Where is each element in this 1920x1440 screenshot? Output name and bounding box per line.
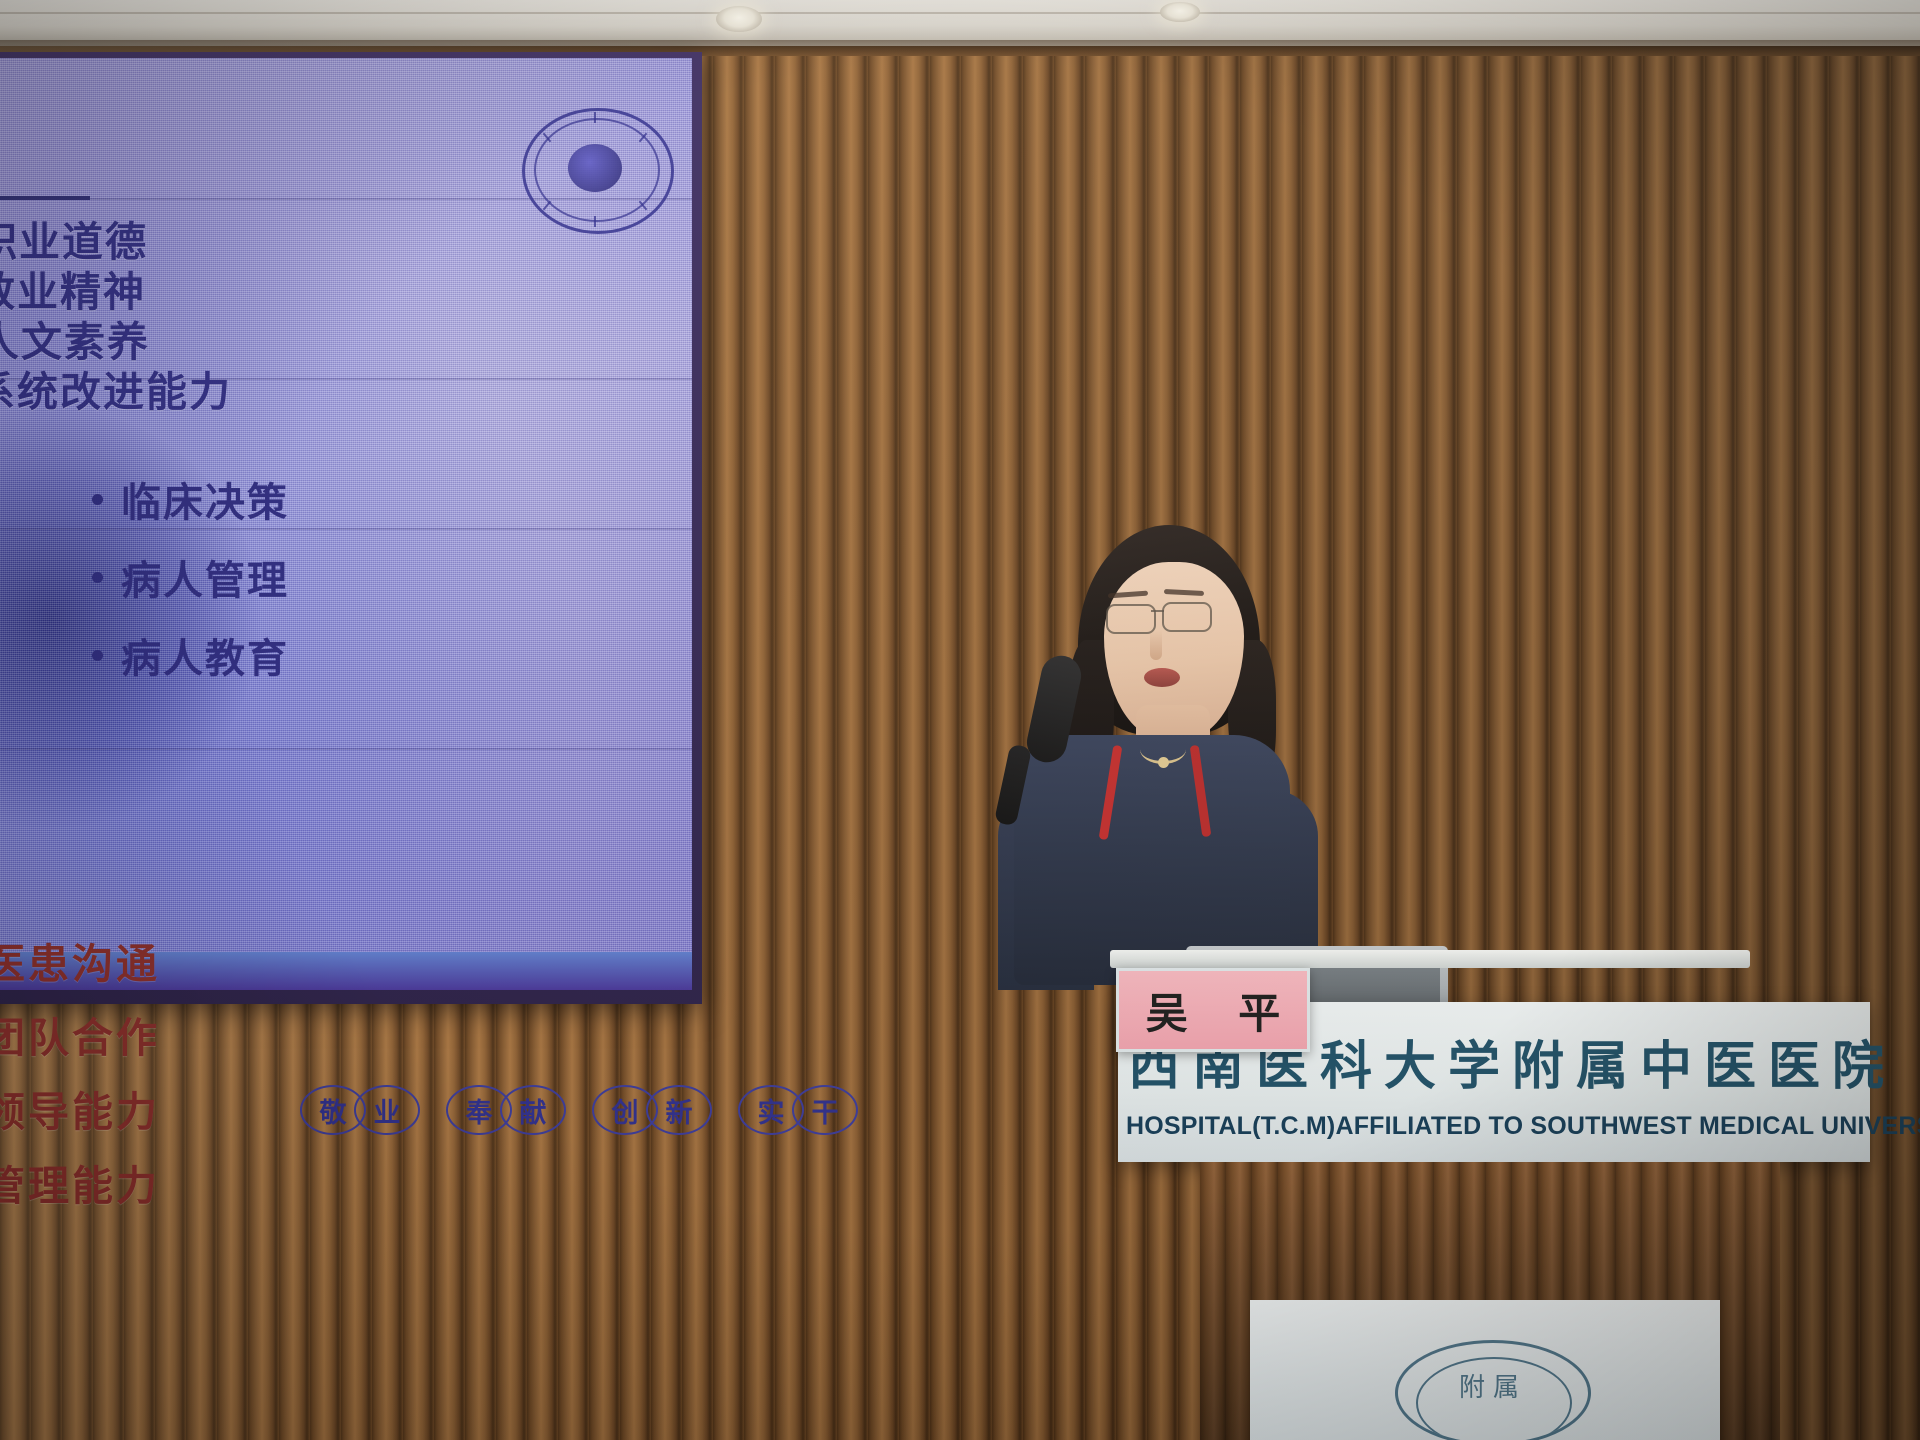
slide-red-keyword: 医患沟通 xyxy=(0,930,160,990)
slogan-char: 干 xyxy=(792,1085,858,1135)
slide-red-keyword: 领导能力 xyxy=(0,1078,160,1138)
slide-red-keyword: 管理能力 xyxy=(0,1152,160,1212)
ceiling-seam xyxy=(0,12,1920,14)
slide-bullet-list: 临床决策 病人管理 病人教育 xyxy=(92,470,289,704)
slogan-badge: 实 干 xyxy=(738,1085,858,1135)
slogan-badge: 奉 献 xyxy=(446,1085,566,1135)
slogan-badge: 敬 业 xyxy=(300,1085,420,1135)
ceiling-downlight-icon xyxy=(716,6,762,32)
speaker-name: 吴 平 xyxy=(1128,980,1299,1041)
slide-red-keyword: 团队合作 xyxy=(0,1004,160,1064)
speaker-mouth xyxy=(1144,668,1180,687)
bullet-label: 病人管理 xyxy=(121,548,289,606)
bullet-label: 临床决策 xyxy=(121,470,289,528)
podium-seal-emblem-icon: 附属 xyxy=(1395,1340,1591,1440)
slogan-char: 新 xyxy=(646,1085,712,1135)
slide-divider-rule xyxy=(0,196,90,200)
conference-photo-scene: 职业道德 敬业精神 人文素养 系统改进能力 临床决策 病人管理 病人教育 医患沟… xyxy=(0,0,1920,1440)
necklace-pendant xyxy=(1158,757,1169,768)
bullet-dot-icon xyxy=(92,650,103,661)
bullet-dot-icon xyxy=(92,494,103,505)
eyeglasses-icon xyxy=(1162,602,1212,632)
podium-top-edge xyxy=(1110,950,1750,968)
list-item: 临床决策 xyxy=(92,470,289,528)
speaker-nose xyxy=(1150,630,1162,660)
bullet-label: 病人教育 xyxy=(121,626,289,684)
slogan-badge: 创 新 xyxy=(592,1085,712,1135)
slide-keyword: 系统改进能力 xyxy=(0,358,232,418)
hospital-emblem-icon xyxy=(512,108,678,228)
podium-seal-text: 附属 xyxy=(1398,1367,1588,1404)
bullet-dot-icon xyxy=(92,572,103,583)
slide-slogan-row: 敬 业 奉 献 创 新 实 干 xyxy=(300,1085,858,1135)
eyeglasses-bridge xyxy=(1151,610,1164,612)
speaker-name-card: 吴 平 xyxy=(1116,968,1310,1052)
slide-red-keyword-group: 医患沟通 团队合作 领导能力 管理能力 xyxy=(0,930,160,1226)
list-item: 病人管理 xyxy=(92,548,289,606)
podium-hospital-name-en: HOSPITAL(T.C.M)AFFILIATED TO SOUTHWEST M… xyxy=(1126,1112,1866,1141)
eyeglasses-icon xyxy=(1106,604,1156,634)
slogan-char: 业 xyxy=(354,1085,420,1135)
slogan-char: 献 xyxy=(500,1085,566,1135)
ceiling-downlight-icon xyxy=(1160,2,1200,22)
list-item: 病人教育 xyxy=(92,626,289,684)
